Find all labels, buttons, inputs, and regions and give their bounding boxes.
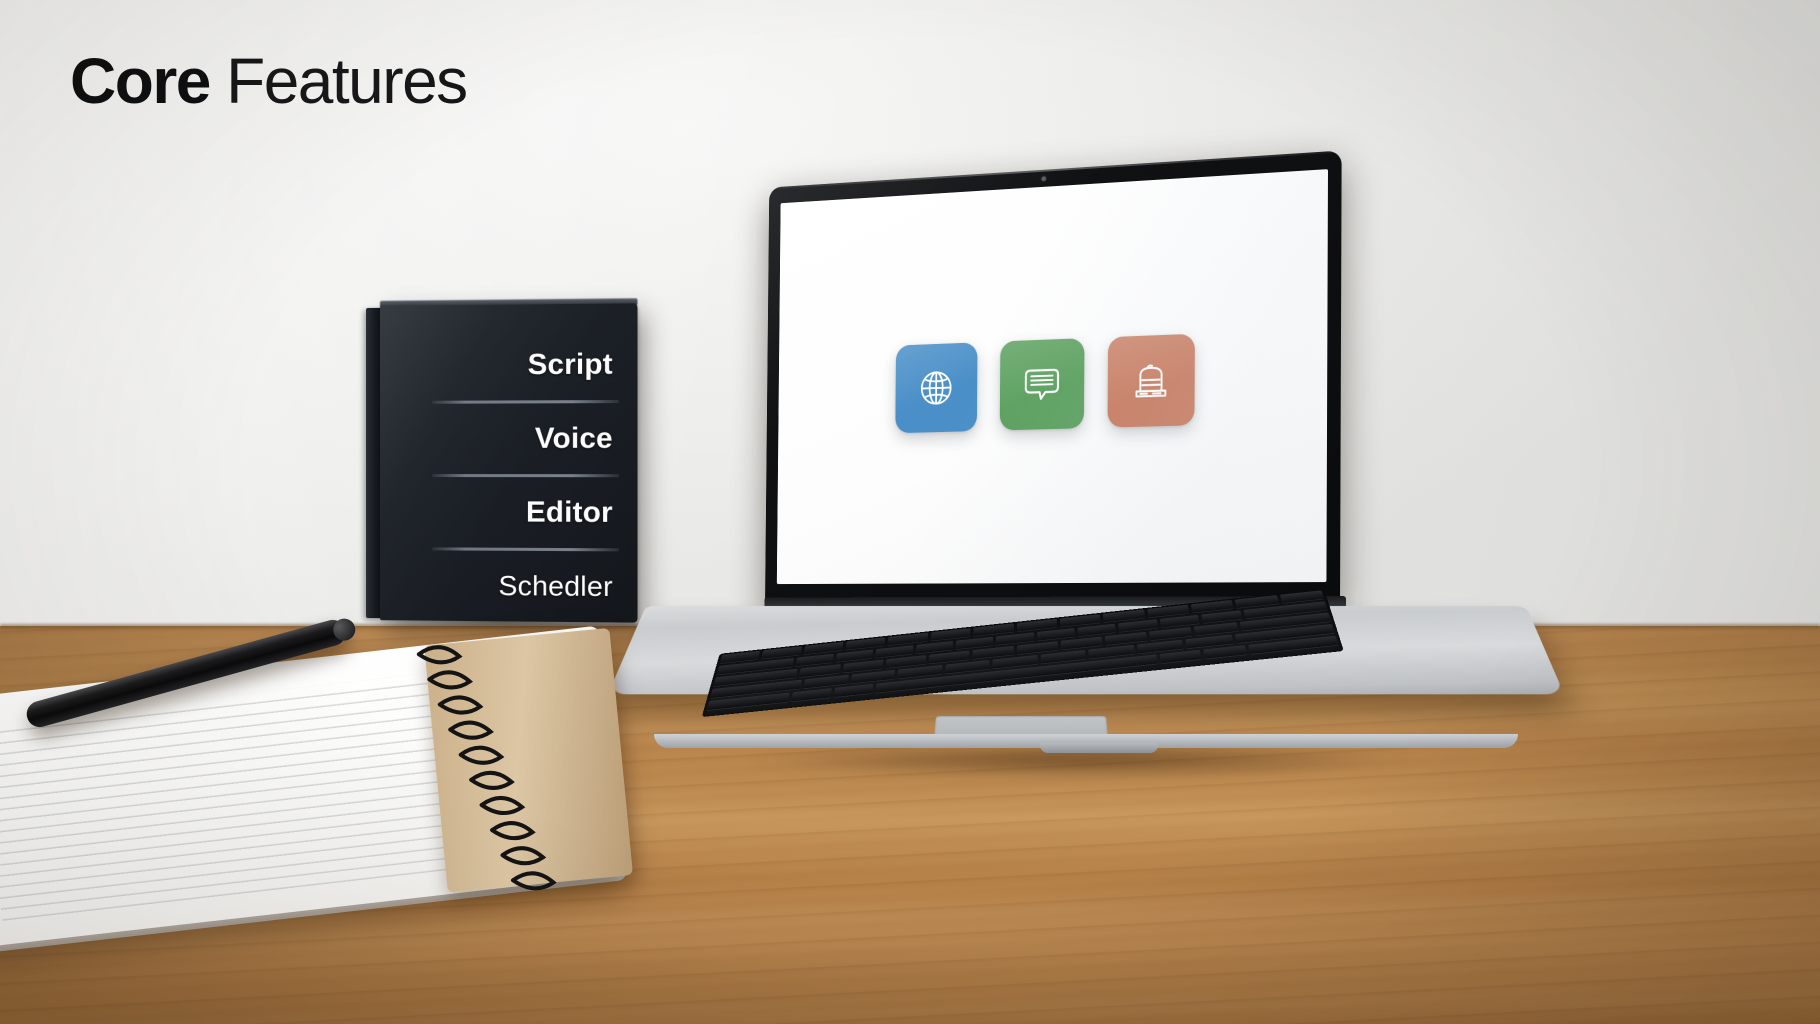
title-regular-word: Features (226, 45, 467, 117)
page-title: Core Features (70, 44, 467, 118)
book-separator (432, 400, 619, 404)
laptop-front-notch (1040, 743, 1158, 753)
laptop-bezel (765, 150, 1342, 608)
laptop-base (640, 588, 1530, 778)
screen-tile-globe[interactable] (895, 342, 977, 433)
scene-root: Core Features Script Voice Editor (0, 0, 1820, 1024)
book-separator (432, 547, 619, 551)
screen-tile-archive[interactable] (1108, 334, 1195, 428)
book-item-editor[interactable]: Editor (380, 482, 629, 543)
book-item-label: Schedler (498, 570, 612, 603)
book-item-label: Voice (535, 422, 613, 456)
webcam-icon (1041, 176, 1045, 181)
spiral-notebook[interactable] (0, 622, 667, 1024)
screen-tile-row (778, 328, 1327, 436)
book-item-script[interactable]: Script (380, 334, 629, 396)
spiral-coil-icon (411, 619, 646, 904)
chat-bubble-icon (1019, 361, 1066, 408)
archive-icon (1128, 356, 1174, 406)
book-item-schedler[interactable]: Schedler (380, 555, 629, 617)
book-front-cover: Script Voice Editor Schedler (380, 303, 638, 622)
book-item-voice[interactable]: Voice (380, 408, 629, 469)
title-bold-word: Core (70, 45, 210, 117)
globe-icon (914, 364, 958, 412)
book-separator (432, 474, 619, 477)
book-item-label: Editor (526, 496, 613, 530)
laptop-screen[interactable] (777, 169, 1328, 584)
laptop-lid (765, 150, 1342, 608)
book-item-label: Script (528, 348, 613, 382)
laptop-mockup (640, 148, 1530, 768)
screen-tile-chat[interactable] (1000, 338, 1085, 430)
notebook-spiral-binding (411, 619, 646, 904)
feature-list-book[interactable]: Script Voice Editor Schedler (366, 303, 638, 622)
book-feature-list: Script Voice Editor Schedler (380, 334, 629, 618)
